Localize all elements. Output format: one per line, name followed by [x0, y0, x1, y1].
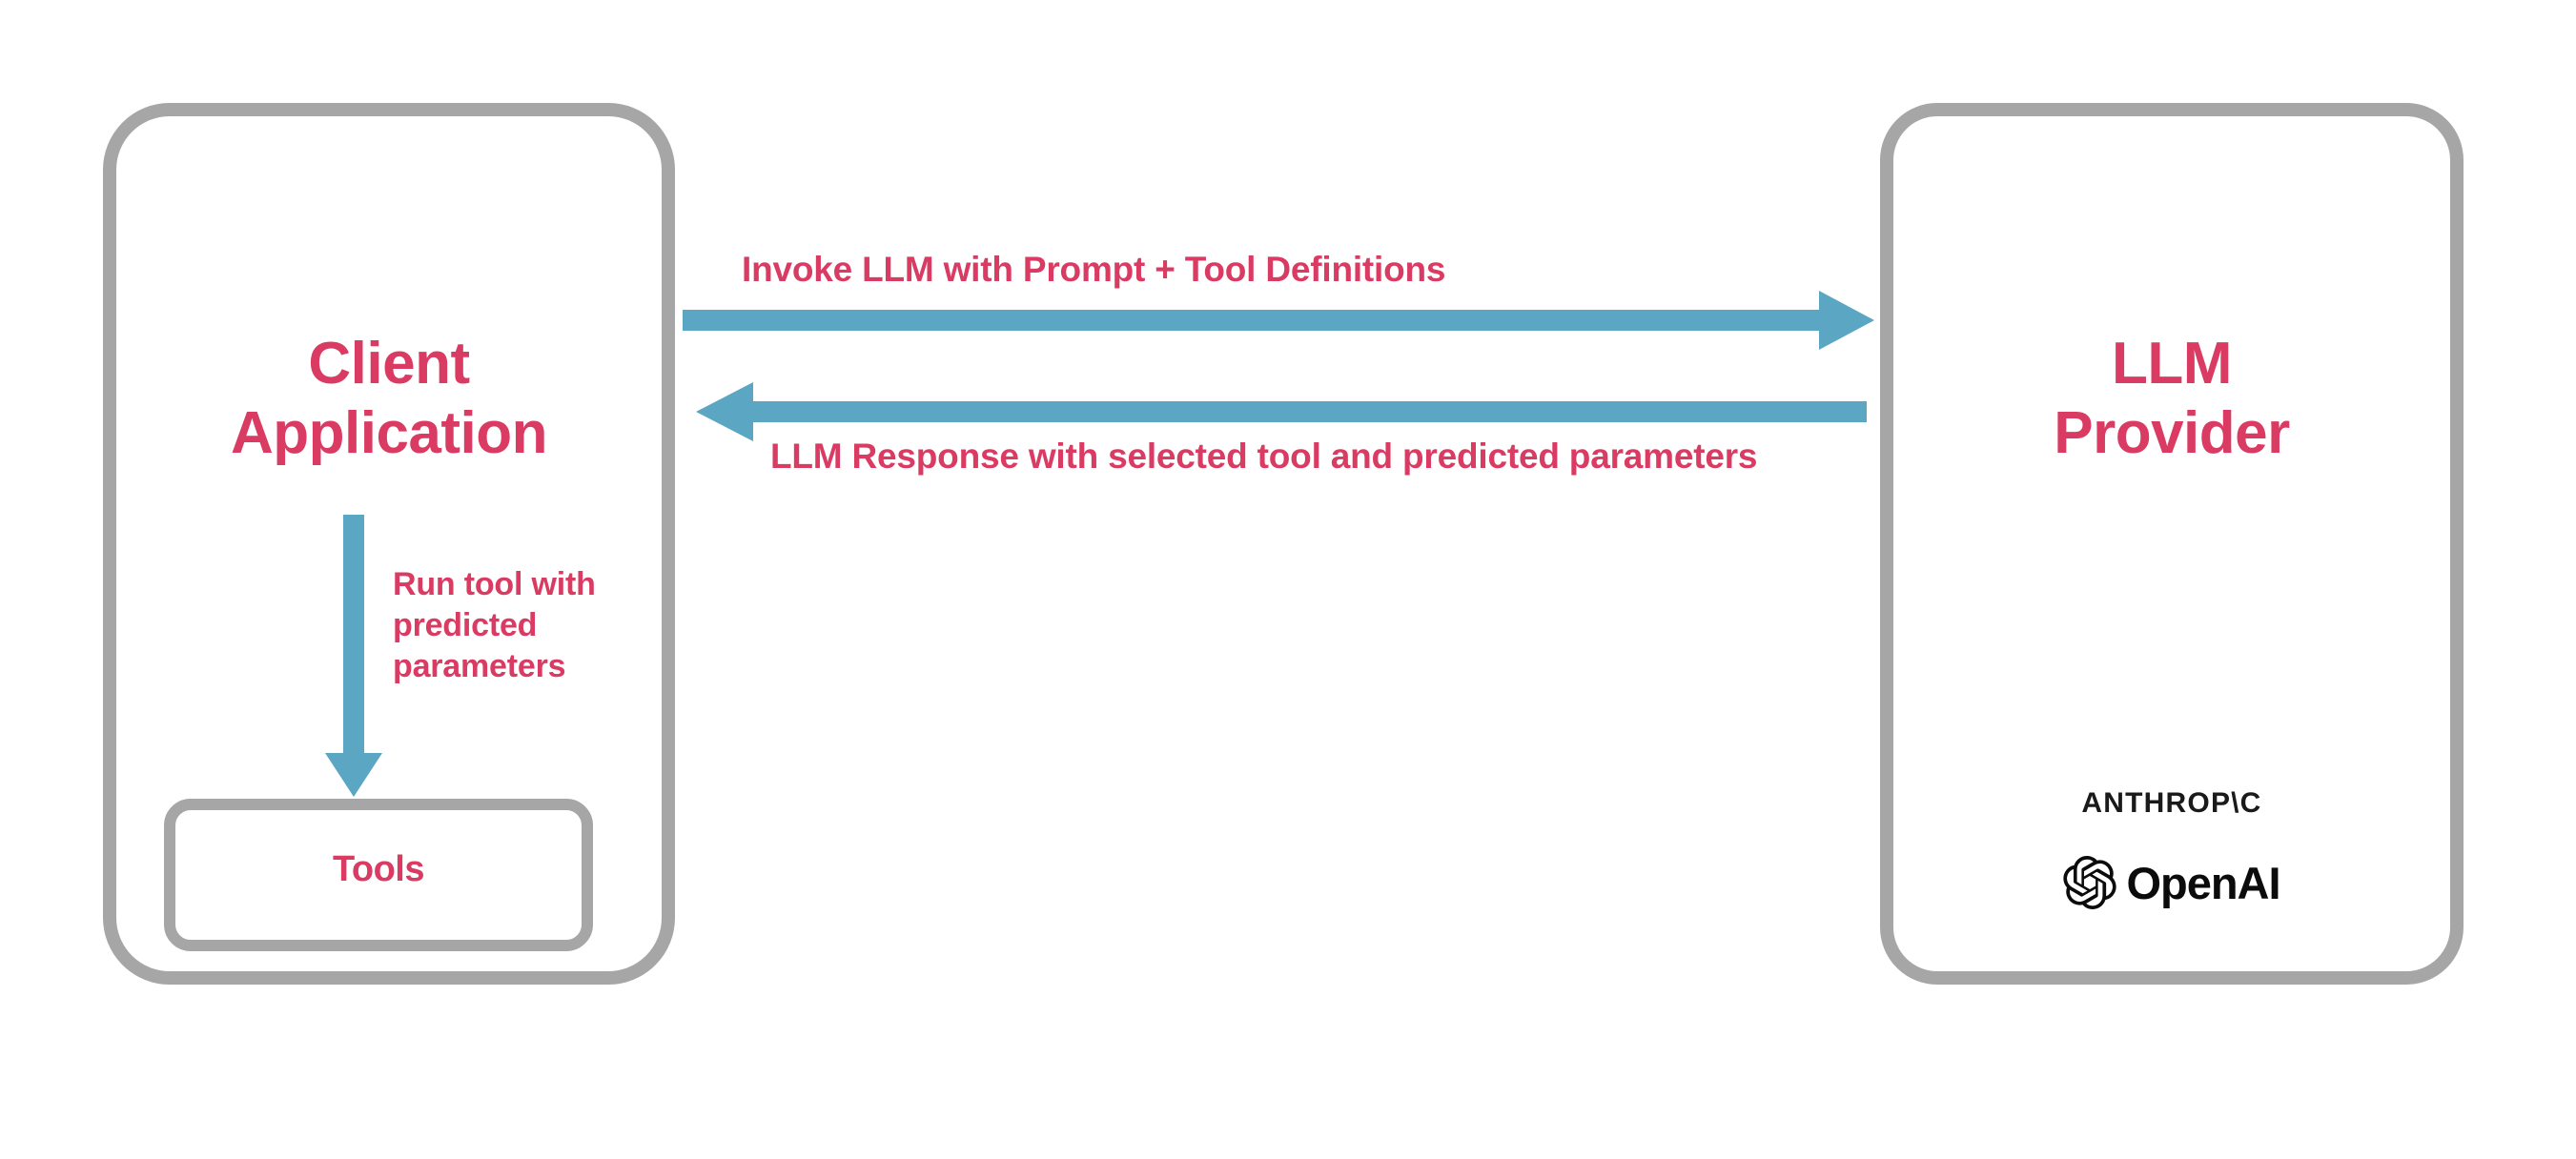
client-application-label: Client Application [103, 329, 675, 468]
llm-provider-label: LLM Provider [1880, 329, 2464, 468]
arrow-label-llm-response: LLM Response with selected tool and pred… [770, 437, 1757, 477]
arrow-invoke-llm [683, 291, 1874, 350]
openai-knot-icon [2063, 856, 2116, 909]
llm-provider-node [1880, 103, 2464, 985]
anthropic-logo: ANTHROP\C [1880, 787, 2464, 820]
openai-wordmark: OpenAI [2126, 861, 2280, 905]
arrow-label-run-tool: Run tool with predicted parameters [393, 564, 679, 686]
diagram-canvas: Client Application Tools LLM Provider AN… [0, 0, 2576, 1159]
openai-logo: OpenAI [1880, 856, 2464, 909]
tools-label: Tools [164, 848, 593, 891]
arrow-label-invoke-llm: Invoke LLM with Prompt + Tool Definition… [742, 250, 1445, 290]
arrow-llm-response [696, 382, 1867, 441]
